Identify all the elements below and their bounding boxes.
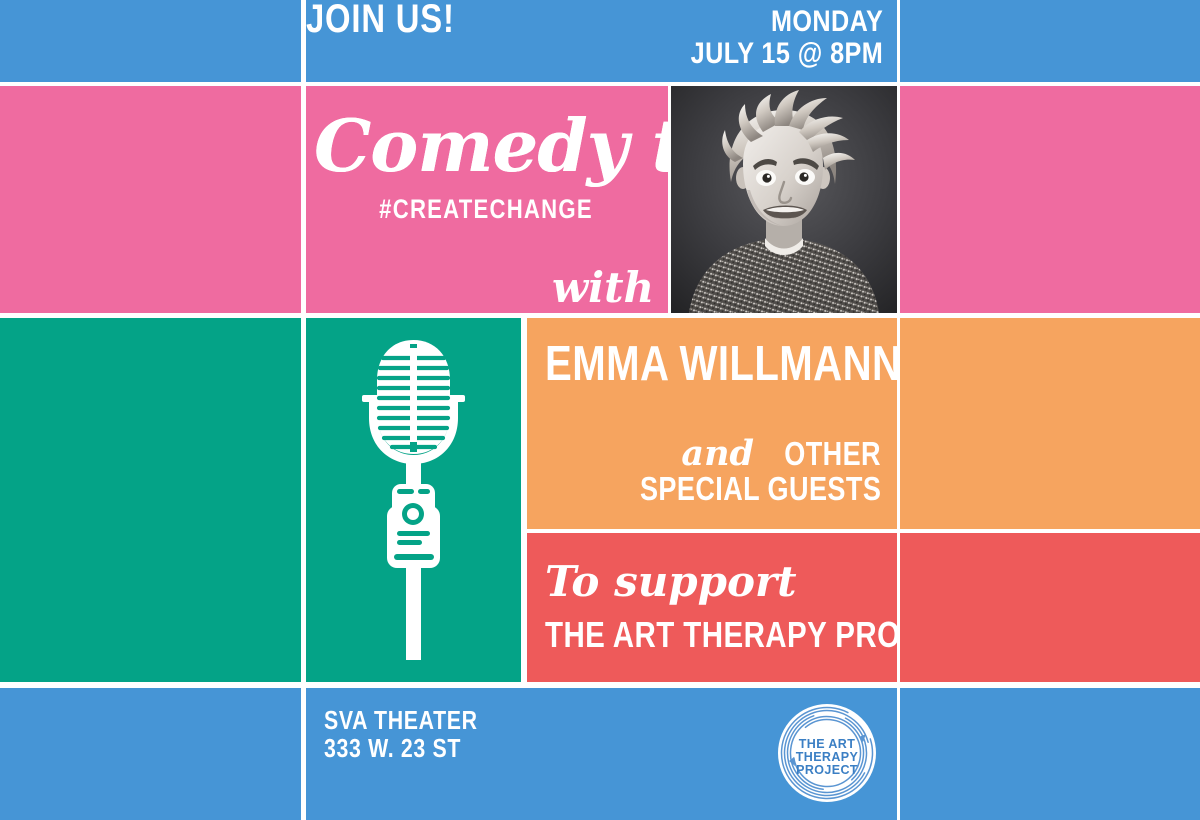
- event-date-block: MONDAY JULY 15 @ 8PM: [654, 6, 883, 70]
- logo-line-2: THERAPY: [796, 750, 859, 764]
- portrait-illustration: [671, 86, 897, 313]
- banner-main: JOIN US! MONDAY JULY 15 @ 8PM: [306, 0, 897, 82]
- and-label: and: [681, 436, 754, 471]
- with-label: with: [552, 267, 654, 309]
- pink-right-filler: [900, 86, 1200, 313]
- guests-line-one: and OTHER: [681, 436, 881, 472]
- banner-right-filler: [900, 0, 1200, 82]
- headliner-label: EMMA WILLMANN: [545, 340, 897, 388]
- event-poster: JOIN US! MONDAY JULY 15 @ 8PM Comedy to …: [0, 0, 1200, 820]
- footer-right-filler: [900, 688, 1200, 820]
- headline-panel: Comedy to #CREATECHANGE with: [306, 86, 668, 313]
- banner-left-filler: [0, 0, 301, 82]
- event-time-label: JULY 15 @ 8PM: [690, 38, 883, 70]
- performer-photo: [671, 86, 897, 313]
- lineup-panel: EMMA WILLMANN and OTHER SPECIAL GUESTS: [527, 318, 897, 529]
- teal-left-filler: [0, 318, 301, 682]
- logo-line-1: THE ART: [799, 737, 856, 751]
- pink-left-filler: [0, 86, 301, 313]
- red-right-filler: [900, 533, 1200, 682]
- venue-name-label: SVA THEATER: [324, 708, 478, 733]
- special-guests-label: SPECIAL GUESTS: [640, 473, 881, 505]
- footer-left-filler: [0, 688, 301, 820]
- footer-main: SVA THEATER 333 W. 23 ST THE ART THERAPY: [306, 688, 897, 820]
- other-label: OTHER: [784, 438, 881, 470]
- headline-script: Comedy to: [314, 110, 654, 182]
- logo-line-3: PROJECT: [796, 763, 858, 777]
- art-therapy-project-logo: THE ART THERAPY PROJECT: [775, 701, 879, 805]
- hashtag-label: #CREATECHANGE: [338, 196, 633, 222]
- event-day-label: MONDAY: [690, 6, 883, 38]
- to-support-label: To support: [545, 561, 797, 603]
- beneficiary-panel: To support THE ART THERAPY PROJECT: [527, 533, 897, 682]
- venue-address-label: 333 W. 23 ST: [324, 736, 461, 761]
- microphone-illustration: [306, 318, 521, 682]
- orange-right-filler: [900, 318, 1200, 529]
- microphone-panel: [306, 318, 521, 682]
- organization-label: THE ART THERAPY PROJECT: [545, 617, 897, 652]
